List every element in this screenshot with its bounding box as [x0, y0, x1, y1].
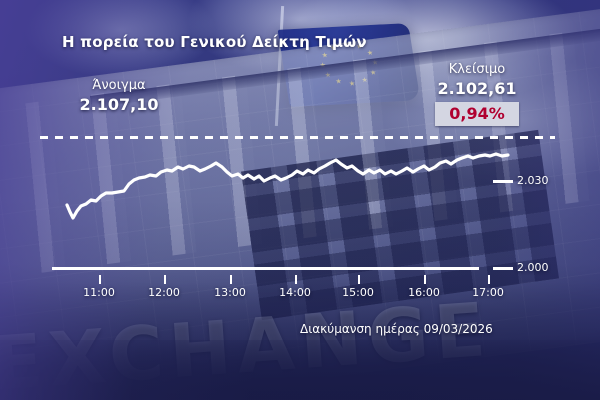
x-tick-16:00 [424, 275, 426, 284]
y-tick-mark-2030 [493, 180, 513, 183]
y-tick-mark-2000 [493, 267, 513, 270]
price-line-chart [0, 0, 600, 400]
infographic-canvas: ★★★★★★★★★★★★ EXCHANGE Η πορεία του Γενικ… [0, 0, 600, 400]
x-label-12:00: 12:00 [139, 286, 189, 299]
y-axis-label-2030: 2.030 [517, 174, 549, 187]
x-tick-12:00 [164, 275, 166, 284]
x-tick-13:00 [230, 275, 232, 284]
x-label-14:00: 14:00 [270, 286, 320, 299]
x-label-11:00: 11:00 [74, 286, 124, 299]
x-axis-line [52, 267, 479, 270]
chart-caption: Διακύμανση ημέρας 09/03/2026 [300, 322, 493, 336]
y-axis-label-2000: 2.000 [517, 261, 549, 274]
chart-overlay: Η πορεία του Γενικού Δείκτη Τιμών Άνοιγμ… [0, 0, 600, 400]
x-label-15:00: 15:00 [333, 286, 383, 299]
x-label-17:00: 17:00 [463, 286, 513, 299]
x-tick-11:00 [99, 275, 101, 284]
x-tick-17:00 [488, 275, 490, 284]
x-label-16:00: 16:00 [399, 286, 449, 299]
x-label-13:00: 13:00 [205, 286, 255, 299]
x-tick-15:00 [358, 275, 360, 284]
price-line-path [67, 154, 508, 218]
x-tick-14:00 [295, 275, 297, 284]
